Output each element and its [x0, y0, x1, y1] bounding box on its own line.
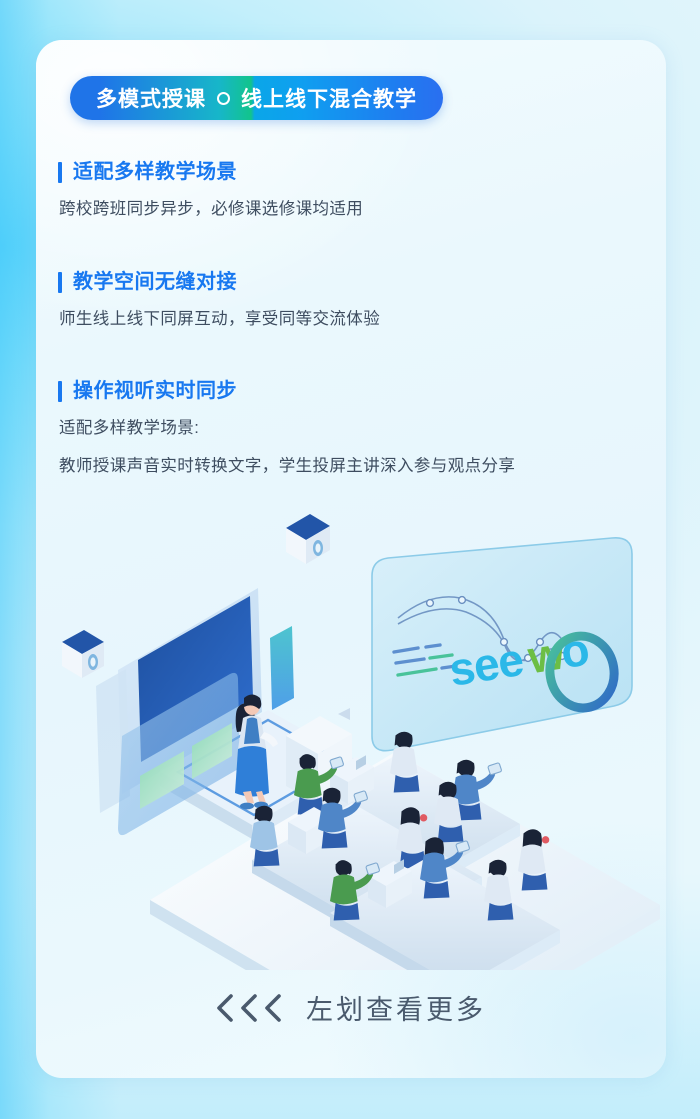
swipe-cta[interactable]: 左划查看更多: [0, 988, 700, 1027]
swipe-cta-label: 左划查看更多: [306, 988, 486, 1027]
banner-right-text: 线上线下混合教学: [241, 83, 417, 113]
camera-device-left: [62, 630, 104, 678]
accent-bar-icon: [58, 272, 62, 293]
feature-block-1: 适配多样教学场景 跨校跨班同步异步，必修课选修课均适用: [58, 160, 618, 223]
feature-heading-2: 教学空间无缝对接: [58, 270, 618, 294]
accent-bar-icon: [58, 162, 62, 183]
accent-bar-icon: [58, 381, 62, 402]
feature-body-3-line-1: 适配多样教学场景:: [59, 416, 618, 442]
feature-body-3-line-2: 教师授课声音实时转换文字，学生投屏主讲深入参与观点分享: [59, 454, 618, 480]
chevron-left-icon-group: [214, 993, 284, 1023]
feature-heading-2-label: 教学空间无缝对接: [73, 270, 237, 294]
feature-heading-1: 适配多样教学场景: [58, 160, 618, 184]
feature-block-3: 操作视听实时同步 适配多样教学场景: 教师授课声音实时转换文字，学生投屏主讲深入…: [58, 379, 618, 479]
feature-heading-3-label: 操作视听实时同步: [73, 379, 237, 403]
feature-body-2-line-1: 师生线上线下同屏互动，享受同等交流体验: [59, 307, 618, 333]
circle-dot-icon: [217, 92, 230, 105]
feature-heading-1-label: 适配多样教学场景: [73, 160, 237, 184]
feature-block-2: 教学空间无缝对接 师生线上线下同屏互动，享受同等交流体验: [58, 270, 618, 333]
chevron-left-icon: [262, 993, 284, 1023]
feature-heading-3: 操作视听实时同步: [58, 379, 618, 403]
chevron-left-icon: [214, 993, 236, 1023]
banner-left-text: 多模式授课: [96, 83, 206, 113]
section-title-banner: 多模式授课 线上线下混合教学: [70, 76, 443, 120]
classroom-illustration: see w o: [0, 500, 700, 970]
feature-body-1-line-1: 跨校跨班同步异步，必修课选修课均适用: [59, 197, 618, 223]
wall-tablet: [270, 626, 294, 710]
smart-board: see w o: [372, 538, 632, 751]
camera-device-top: [286, 514, 330, 564]
chevron-left-icon: [238, 993, 260, 1023]
